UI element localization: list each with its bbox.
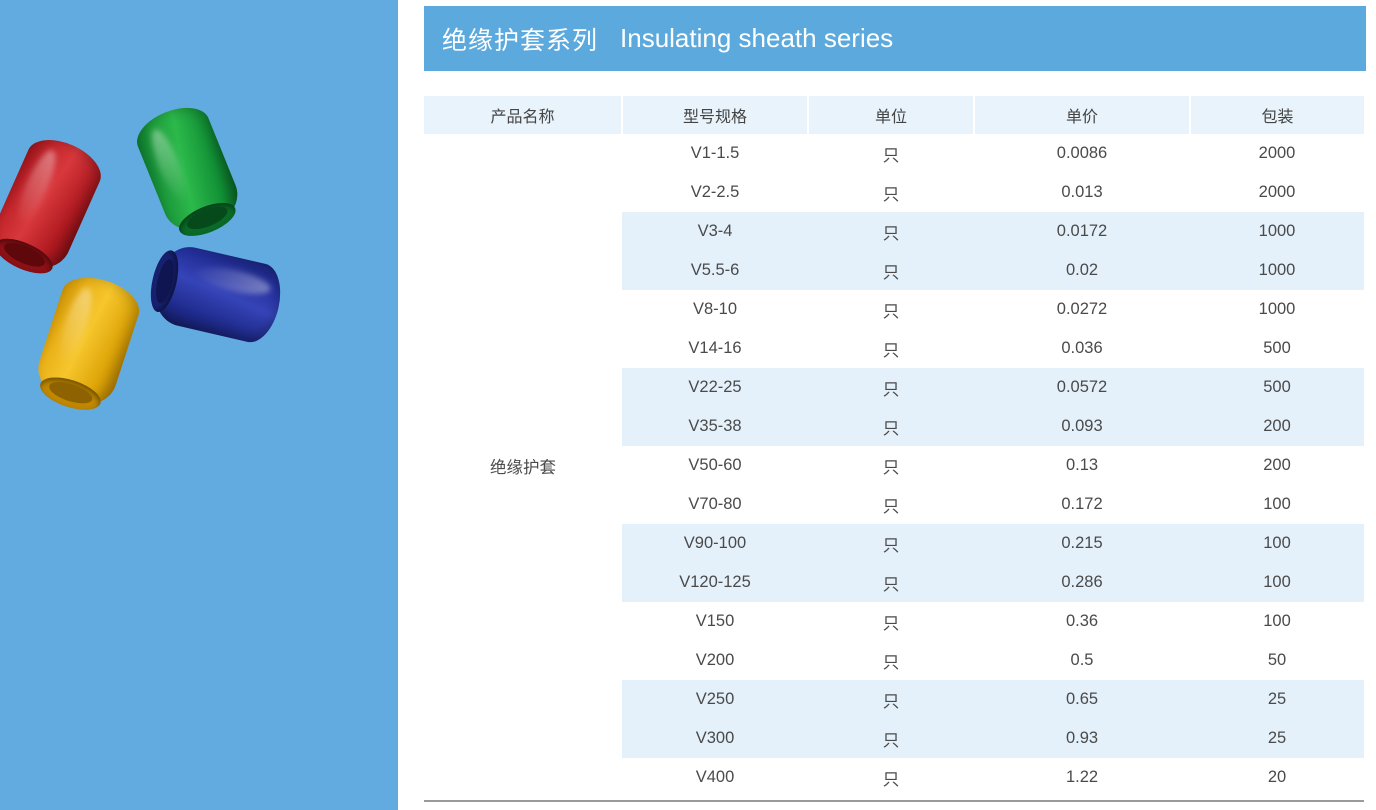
cell-model-spec: V14-16 bbox=[622, 329, 808, 368]
product-catalog-page: 绝缘护套系列 Insulating sheath series 产品名称 型号规… bbox=[0, 0, 1376, 810]
cell-model-spec: V250 bbox=[622, 680, 808, 719]
green-insulating-sheath bbox=[130, 98, 246, 240]
table-header-row: 产品名称 型号规格 单位 单价 包装 bbox=[424, 96, 1364, 134]
series-title-chinese: 绝缘护套系列 bbox=[442, 21, 598, 57]
cell-packaging: 100 bbox=[1190, 524, 1364, 563]
cell-unit: 只 bbox=[808, 758, 974, 797]
cell-unit: 只 bbox=[808, 680, 974, 719]
cell-unit: 只 bbox=[808, 485, 974, 524]
cell-packaging: 1000 bbox=[1190, 290, 1364, 329]
cell-unit-price: 0.65 bbox=[974, 680, 1190, 719]
cell-unit: 只 bbox=[808, 290, 974, 329]
column-header-unit-price: 单价 bbox=[974, 96, 1190, 134]
cell-model-spec: V150 bbox=[622, 602, 808, 641]
cell-packaging: 200 bbox=[1190, 407, 1364, 446]
cell-packaging: 1000 bbox=[1190, 212, 1364, 251]
cell-packaging: 100 bbox=[1190, 485, 1364, 524]
cell-unit-price: 0.13 bbox=[974, 446, 1190, 485]
cell-unit: 只 bbox=[808, 173, 974, 212]
specification-table: 产品名称 型号规格 单位 单价 包装 绝缘护套V1-1.5只0.00862000… bbox=[424, 96, 1364, 797]
cell-model-spec: V50-60 bbox=[622, 446, 808, 485]
cell-model-spec: V8-10 bbox=[622, 290, 808, 329]
column-header-unit: 单位 bbox=[808, 96, 974, 134]
cell-packaging: 20 bbox=[1190, 758, 1364, 797]
cell-unit: 只 bbox=[808, 329, 974, 368]
cell-packaging: 2000 bbox=[1190, 134, 1364, 173]
cell-unit-price: 0.0572 bbox=[974, 368, 1190, 407]
cell-model-spec: V70-80 bbox=[622, 485, 808, 524]
series-title-bar: 绝缘护套系列 Insulating sheath series bbox=[424, 6, 1366, 71]
cell-unit: 只 bbox=[808, 563, 974, 602]
column-header-product-name: 产品名称 bbox=[424, 96, 622, 134]
cell-model-spec: V300 bbox=[622, 719, 808, 758]
cell-packaging: 25 bbox=[1190, 680, 1364, 719]
cell-unit-price: 0.286 bbox=[974, 563, 1190, 602]
cell-model-spec: V1-1.5 bbox=[622, 134, 808, 173]
cell-unit-price: 0.172 bbox=[974, 485, 1190, 524]
cell-unit: 只 bbox=[808, 524, 974, 563]
cell-model-spec: V2-2.5 bbox=[622, 173, 808, 212]
cell-unit-price: 0.02 bbox=[974, 251, 1190, 290]
table-row: 绝缘护套V1-1.5只0.00862000 bbox=[424, 134, 1364, 173]
cell-unit-price: 0.036 bbox=[974, 329, 1190, 368]
cell-model-spec: V90-100 bbox=[622, 524, 808, 563]
cell-packaging: 200 bbox=[1190, 446, 1364, 485]
table-header: 产品名称 型号规格 单位 单价 包装 bbox=[424, 96, 1364, 134]
cell-unit: 只 bbox=[808, 368, 974, 407]
cell-unit: 只 bbox=[808, 602, 974, 641]
cell-packaging: 1000 bbox=[1190, 251, 1364, 290]
cell-unit-price: 0.93 bbox=[974, 719, 1190, 758]
cell-unit-price: 0.36 bbox=[974, 602, 1190, 641]
cell-unit: 只 bbox=[808, 719, 974, 758]
cell-model-spec: V35-38 bbox=[622, 407, 808, 446]
yellow-insulating-sheath bbox=[30, 269, 145, 414]
cell-unit-price: 0.013 bbox=[974, 173, 1190, 212]
red-insulating-sheath bbox=[0, 130, 109, 279]
cell-packaging: 500 bbox=[1190, 368, 1364, 407]
cell-unit: 只 bbox=[808, 641, 974, 680]
cell-model-spec: V5.5-6 bbox=[622, 251, 808, 290]
series-title-english: Insulating sheath series bbox=[620, 23, 893, 54]
cell-unit: 只 bbox=[808, 212, 974, 251]
cell-model-spec: V120-125 bbox=[622, 563, 808, 602]
cell-model-spec: V22-25 bbox=[622, 368, 808, 407]
cell-packaging: 100 bbox=[1190, 563, 1364, 602]
cell-unit-price: 0.093 bbox=[974, 407, 1190, 446]
column-header-model-spec: 型号规格 bbox=[622, 96, 808, 134]
cell-packaging: 50 bbox=[1190, 641, 1364, 680]
cell-unit: 只 bbox=[808, 407, 974, 446]
cell-packaging: 100 bbox=[1190, 602, 1364, 641]
cell-unit-price: 0.215 bbox=[974, 524, 1190, 563]
cell-model-spec: V400 bbox=[622, 758, 808, 797]
cell-product-name: 绝缘护套 bbox=[424, 134, 622, 797]
cell-model-spec: V200 bbox=[622, 641, 808, 680]
catalog-content: 绝缘护套系列 Insulating sheath series 产品名称 型号规… bbox=[424, 0, 1366, 810]
cell-unit-price: 0.5 bbox=[974, 641, 1190, 680]
cell-unit: 只 bbox=[808, 134, 974, 173]
cell-packaging: 500 bbox=[1190, 329, 1364, 368]
table-bottom-divider bbox=[424, 800, 1364, 802]
column-header-packaging: 包装 bbox=[1190, 96, 1364, 134]
cell-unit-price: 1.22 bbox=[974, 758, 1190, 797]
blue-insulating-sheath bbox=[149, 241, 288, 347]
cell-unit-price: 0.0272 bbox=[974, 290, 1190, 329]
cell-unit: 只 bbox=[808, 251, 974, 290]
cell-model-spec: V3-4 bbox=[622, 212, 808, 251]
cell-packaging: 25 bbox=[1190, 719, 1364, 758]
cell-packaging: 2000 bbox=[1190, 173, 1364, 212]
table-body: 绝缘护套V1-1.5只0.00862000V2-2.5只0.0132000V3-… bbox=[424, 134, 1364, 797]
cell-unit-price: 0.0086 bbox=[974, 134, 1190, 173]
product-photo-panel bbox=[0, 0, 398, 810]
cell-unit: 只 bbox=[808, 446, 974, 485]
cell-unit-price: 0.0172 bbox=[974, 212, 1190, 251]
